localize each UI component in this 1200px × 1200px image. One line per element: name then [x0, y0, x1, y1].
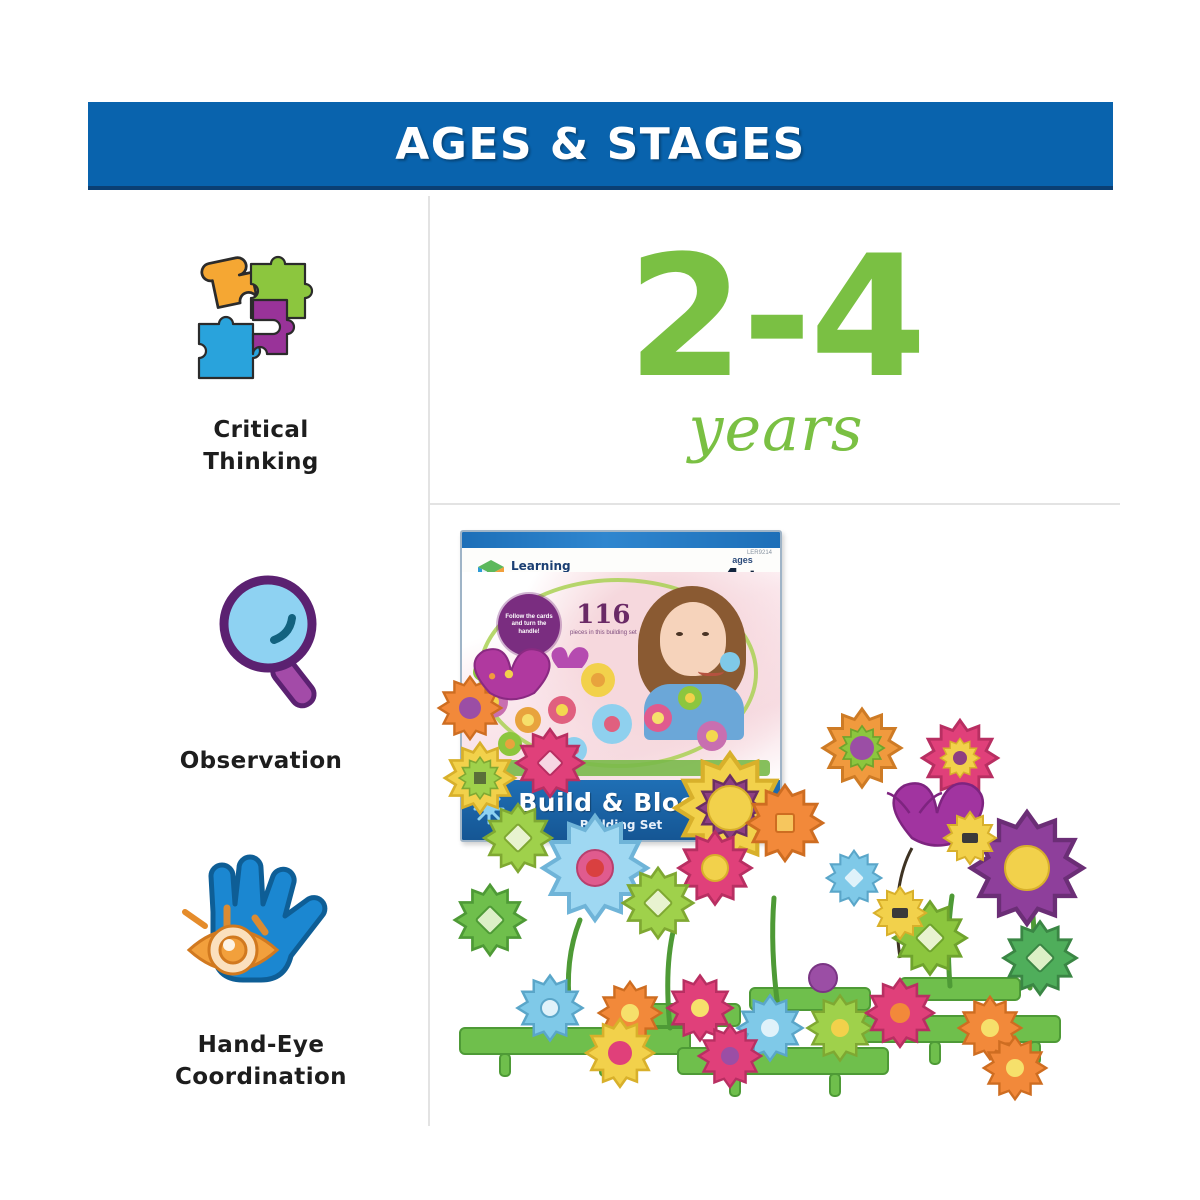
skills-column: Critical Thinking Observation: [96, 200, 426, 1130]
age-panel: 2-4 years: [432, 200, 1120, 500]
ages-and-stages-infographic: AGES & STAGES: [0, 0, 1200, 1200]
magnifying-glass-icon: [176, 562, 346, 732]
gear-pink-1: [516, 729, 584, 797]
product-panel: LER9214 Learning Resources ages: [430, 508, 1120, 1128]
skill-label-line1: Observation: [180, 748, 343, 774]
horizontal-divider: [428, 503, 1120, 505]
toy-flower-garden-scene: [430, 508, 1120, 1128]
gear-yellow-1: [445, 743, 515, 813]
puzzle-pieces-icon: [171, 236, 351, 401]
gear-green-3: [455, 885, 525, 955]
skill-label: Hand-Eye Coordination: [175, 1030, 347, 1093]
flower-orange-purple: [823, 709, 901, 787]
age-unit-text: years: [688, 398, 863, 460]
age-range-text: 2-4: [627, 240, 925, 395]
header-banner: AGES & STAGES: [88, 102, 1113, 190]
skill-label-line2: Coordination: [175, 1064, 347, 1090]
skill-label-line1: Hand-Eye: [198, 1032, 325, 1058]
skill-hand-eye-coordination: Hand-Eye Coordination: [96, 846, 426, 1093]
purple-disc: [809, 964, 837, 992]
skill-label: Critical Thinking: [203, 415, 319, 478]
page-title: AGES & STAGES: [395, 119, 806, 170]
hand-eye-icon: [169, 846, 354, 1016]
skill-label-line2: Thinking: [203, 449, 319, 475]
skill-observation: Observation: [96, 562, 426, 778]
skill-critical-thinking: Critical Thinking: [96, 236, 426, 478]
gear-blue-small: [827, 851, 882, 906]
skill-label: Observation: [180, 746, 343, 778]
gear-green-2: [484, 804, 552, 872]
skill-label-line1: Critical: [213, 417, 308, 443]
